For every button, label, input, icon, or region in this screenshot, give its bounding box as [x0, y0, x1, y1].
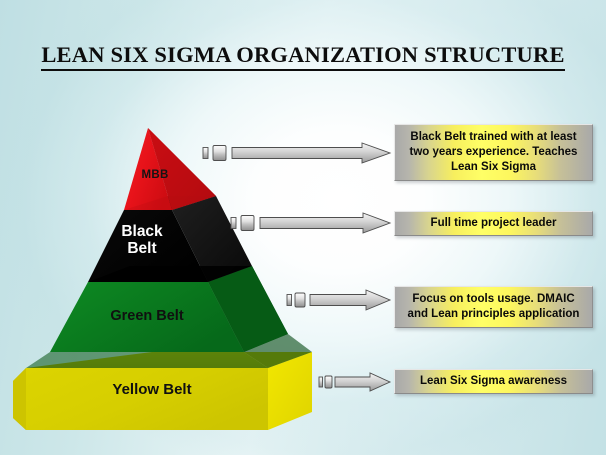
callout-box-yellow-belt: Lean Six Sigma awareness [394, 369, 593, 394]
callout-box-green-belt: Focus on tools usage. DMAIC and Lean pri… [394, 286, 593, 328]
callout-box-mbb: Black Belt trained with at least two yea… [394, 124, 593, 181]
callout-line: Lean Six Sigma awareness [420, 374, 567, 389]
page-title: LEAN SIX SIGMA ORGANIZATION STRUCTURE [0, 42, 606, 68]
callout-box-black-belt-text: Full time project leader [431, 216, 557, 231]
callout-box-mbb-text: Black Belt trained with at least two yea… [410, 130, 578, 174]
pyramid-tier-mbb [124, 128, 216, 210]
callout-line: and Lean principles application [408, 307, 580, 322]
right-arrow-icon-mbb [202, 142, 392, 164]
right-arrow-icon-green-belt [286, 289, 392, 311]
callout-line: Focus on tools usage. DMAIC [408, 292, 580, 307]
callout-line: two years experience. Teaches [410, 145, 578, 160]
callout-line: Black Belt trained with at least [410, 130, 578, 145]
callout-line: Lean Six Sigma [410, 160, 578, 175]
callout-line: Full time project leader [431, 216, 557, 231]
callout-box-black-belt: Full time project leader [394, 211, 593, 236]
callout-box-yellow-belt-text: Lean Six Sigma awareness [420, 374, 567, 389]
callout-box-green-belt-text: Focus on tools usage. DMAIC and Lean pri… [408, 292, 580, 321]
page-title-text: LEAN SIX SIGMA ORGANIZATION STRUCTURE [41, 42, 564, 71]
right-arrow-icon-black-belt [230, 212, 392, 234]
right-arrow-icon-yellow-belt [318, 372, 392, 392]
slide-canvas: LEAN SIX SIGMA ORGANIZATION STRUCTURE [0, 0, 606, 455]
